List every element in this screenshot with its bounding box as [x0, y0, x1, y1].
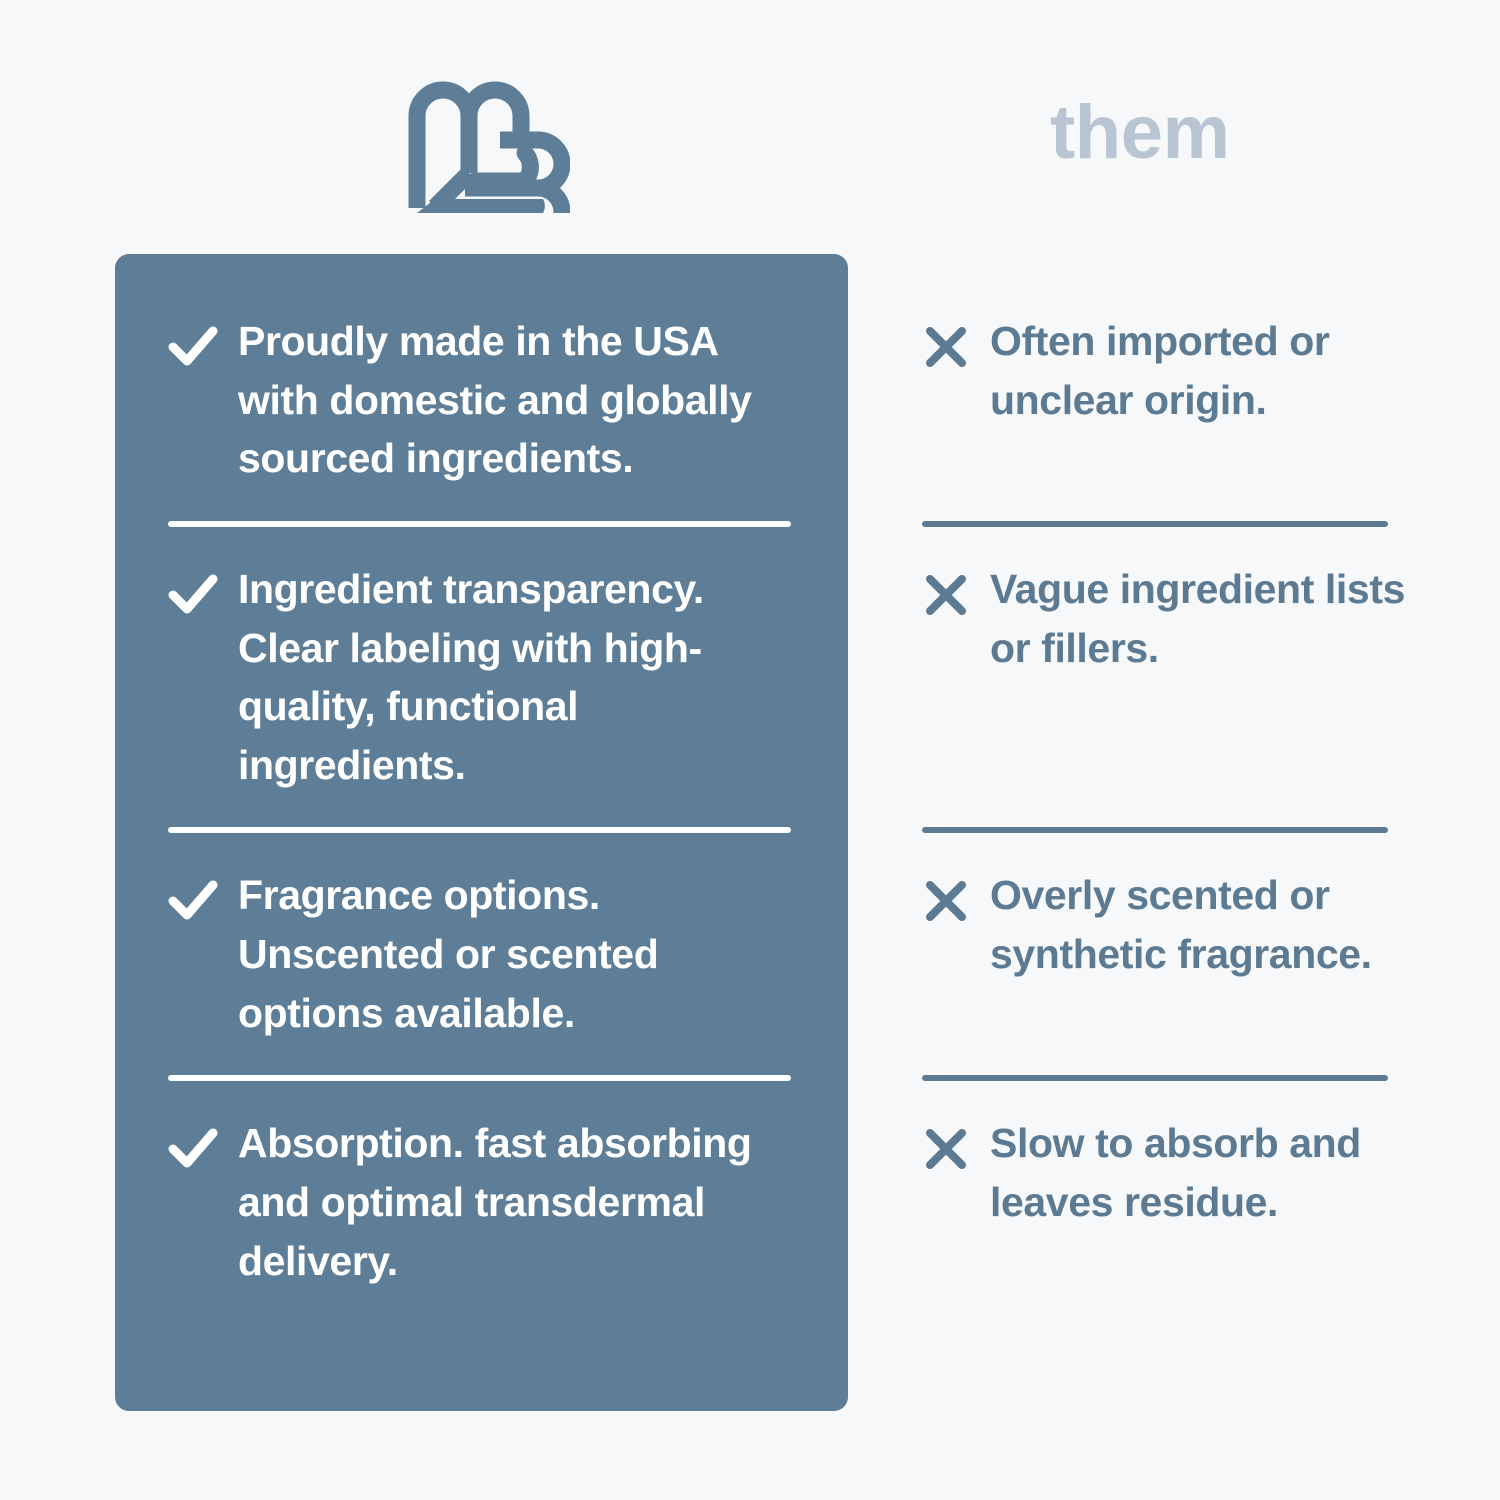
brand-advantages-list: Proudly made in the USA with domestic an… — [115, 254, 848, 1411]
check-icon — [168, 570, 218, 618]
list-item: Vague ingredient lists or fillers. — [848, 560, 1448, 677]
list-item-text: Often imported or unclear origin. — [990, 312, 1408, 429]
list-item: Overly scented or synthetic fragrance. — [848, 866, 1448, 983]
x-icon — [922, 1125, 970, 1173]
list-item: Ingredient transparency. Clear labeling … — [115, 560, 848, 795]
divider — [922, 521, 1388, 527]
list-item-text: Overly scented or synthetic fragrance. — [990, 866, 1408, 983]
list-item-text: Ingredient transparency. Clear labeling … — [238, 560, 803, 795]
mb-monogram-logo — [405, 78, 570, 213]
x-icon — [922, 571, 970, 619]
list-item-text: Absorption. fast absorbing and optimal t… — [238, 1114, 803, 1290]
list-item: Often imported or unclear origin. — [848, 312, 1448, 429]
divider — [922, 827, 1388, 833]
them-column-heading: them — [1050, 95, 1230, 171]
list-item: Fragrance options. Unscented or scented … — [115, 866, 848, 1042]
list-item-text: Vague ingredient lists or fillers. — [990, 560, 1408, 677]
check-icon — [168, 1124, 218, 1172]
header-row: them — [0, 0, 1500, 254]
check-icon — [168, 322, 218, 370]
competitor-drawbacks-column: Often imported or unclear origin. Vague … — [848, 254, 1448, 1411]
divider — [168, 521, 791, 527]
divider — [168, 827, 791, 833]
divider — [168, 1075, 791, 1081]
list-item-text: Slow to absorb and leaves residue. — [990, 1114, 1408, 1231]
divider — [922, 1075, 1388, 1081]
brand-advantages-panel: Proudly made in the USA with domestic an… — [115, 254, 848, 1411]
list-item-text: Proudly made in the USA with domestic an… — [238, 312, 803, 488]
check-icon — [168, 876, 218, 924]
competitor-drawbacks-list: Often imported or unclear origin. Vague … — [848, 254, 1448, 1411]
list-item: Proudly made in the USA with domestic an… — [115, 312, 848, 488]
list-item-text: Fragrance options. Unscented or scented … — [238, 866, 803, 1042]
list-item: Slow to absorb and leaves residue. — [848, 1114, 1448, 1231]
x-icon — [922, 877, 970, 925]
list-item: Absorption. fast absorbing and optimal t… — [115, 1114, 848, 1290]
x-icon — [922, 323, 970, 371]
